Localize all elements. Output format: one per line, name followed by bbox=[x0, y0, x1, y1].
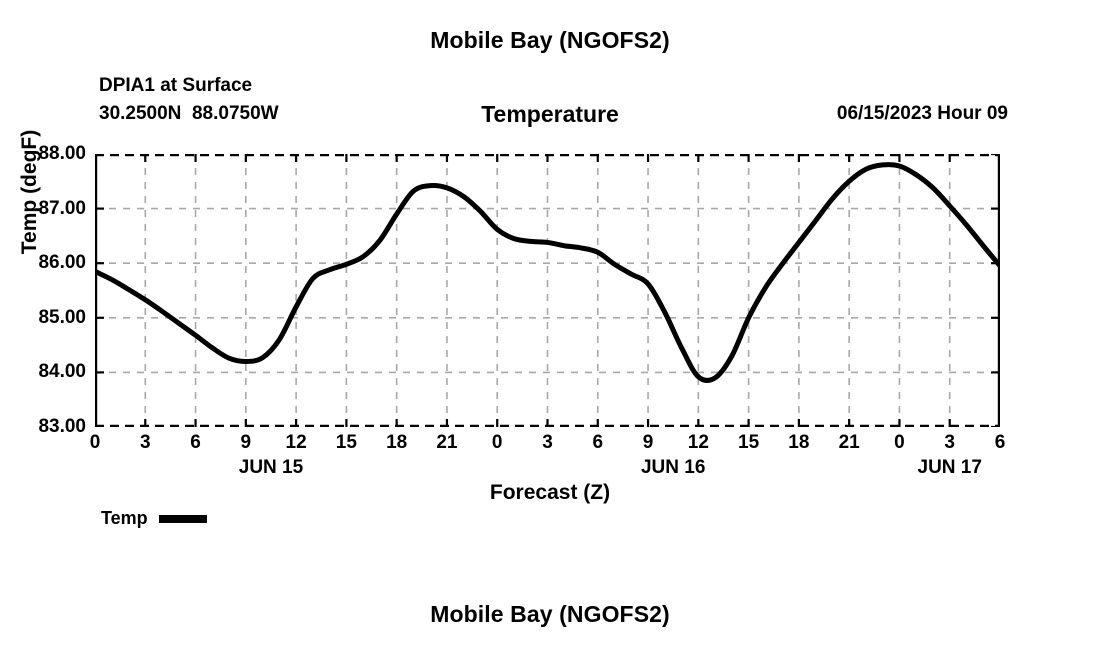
chart-legend: Temp bbox=[101, 508, 207, 529]
page-title-bottom: Mobile Bay (NGOFS2) bbox=[0, 601, 1100, 628]
x-axis-day-label: JUN 15 bbox=[239, 457, 303, 479]
x-axis-tick-label: 15 bbox=[738, 432, 759, 454]
legend-label-temp: Temp bbox=[101, 508, 148, 529]
x-axis-day-label: JUN 16 bbox=[641, 457, 705, 479]
y-axis-tick-label: 86.00 bbox=[38, 252, 86, 274]
x-axis-tick-label: 3 bbox=[944, 432, 955, 454]
x-axis-tick-label: 3 bbox=[542, 432, 553, 454]
x-axis-tick-label: 21 bbox=[436, 432, 457, 454]
x-axis-title: Forecast (Z) bbox=[0, 481, 1100, 505]
x-axis-tick-label: 18 bbox=[788, 432, 809, 454]
x-axis-tick-labels: 036912151821036912151821036 bbox=[95, 432, 1000, 458]
chart-plot-area bbox=[95, 154, 1000, 427]
x-axis-tick-label: 0 bbox=[492, 432, 503, 454]
x-axis-day-labels: JUN 15JUN 16JUN 17 bbox=[95, 457, 1000, 483]
x-axis-tick-label: 21 bbox=[839, 432, 860, 454]
y-axis-tick-labels: 88.0087.0086.0085.0084.0083.00 bbox=[0, 154, 86, 427]
page-title-top: Mobile Bay (NGOFS2) bbox=[0, 27, 1100, 54]
x-axis-tick-label: 15 bbox=[336, 432, 357, 454]
x-axis-tick-label: 12 bbox=[688, 432, 709, 454]
legend-swatch-temp bbox=[159, 515, 207, 523]
x-axis-day-label: JUN 17 bbox=[918, 457, 982, 479]
x-axis-tick-label: 0 bbox=[894, 432, 905, 454]
model-run-timestamp: 06/15/2023 Hour 09 bbox=[837, 103, 1008, 125]
x-axis-tick-label: 9 bbox=[241, 432, 252, 454]
y-axis-tick-label: 88.00 bbox=[38, 143, 86, 165]
x-axis-tick-label: 6 bbox=[190, 432, 201, 454]
y-axis-tick-label: 87.00 bbox=[38, 198, 86, 220]
x-axis-tick-label: 18 bbox=[386, 432, 407, 454]
x-axis-tick-label: 6 bbox=[995, 432, 1006, 454]
x-axis-tick-label: 6 bbox=[592, 432, 603, 454]
y-axis-tick-label: 83.00 bbox=[38, 416, 86, 438]
x-axis-tick-label: 0 bbox=[90, 432, 101, 454]
station-name-label: DPIA1 at Surface bbox=[99, 75, 252, 97]
y-axis-tick-label: 85.00 bbox=[38, 307, 86, 329]
x-axis-tick-label: 3 bbox=[140, 432, 151, 454]
y-axis-tick-label: 84.00 bbox=[38, 361, 86, 383]
temperature-line-chart bbox=[95, 154, 1000, 427]
x-axis-tick-label: 9 bbox=[643, 432, 654, 454]
x-axis-tick-label: 12 bbox=[286, 432, 307, 454]
